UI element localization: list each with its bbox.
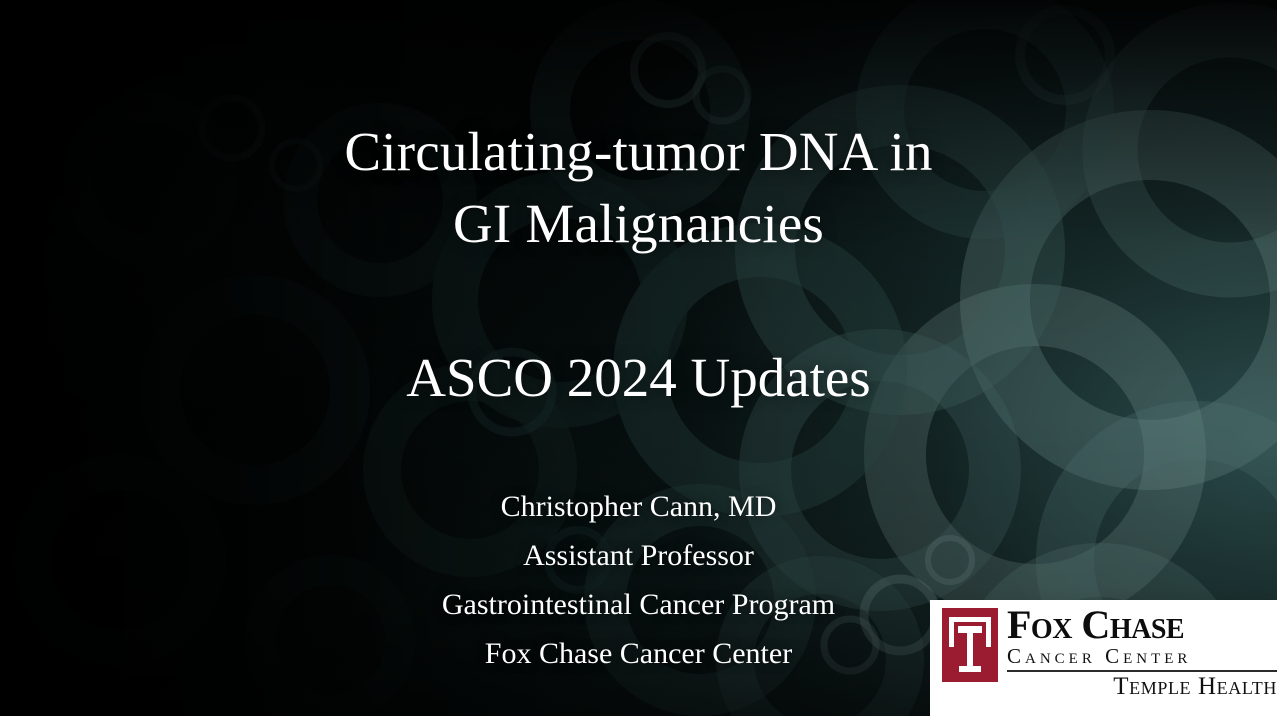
title-line-2: GI Malignancies [0, 188, 1277, 260]
logo-divider-rule [1007, 670, 1277, 672]
presenter-title: Assistant Professor [0, 531, 1277, 580]
title-line-1: Circulating-tumor DNA in [0, 116, 1277, 188]
slide-title: Circulating-tumor DNA in GI Malignancies [0, 116, 1277, 260]
title-slide: Circulating-tumor DNA in GI Malignancies… [0, 0, 1277, 716]
fox-chase-cancer-center-logo: Fox Chase Cancer Center Temple Health [930, 600, 1277, 716]
temple-t-icon [942, 608, 998, 682]
slide-subtitle: ASCO 2024 Updates [0, 342, 1277, 414]
logo-wordmark: Fox Chase Cancer Center Temple Health [1007, 608, 1277, 701]
subtitle-line-1: ASCO 2024 Updates [0, 342, 1277, 414]
logo-primary-text: Fox Chase [1007, 608, 1277, 644]
logo-secondary-text: Cancer Center [1007, 644, 1277, 668]
presenter-name: Christopher Cann, MD [0, 482, 1277, 531]
logo-tertiary-text: Temple Health [1007, 673, 1277, 701]
